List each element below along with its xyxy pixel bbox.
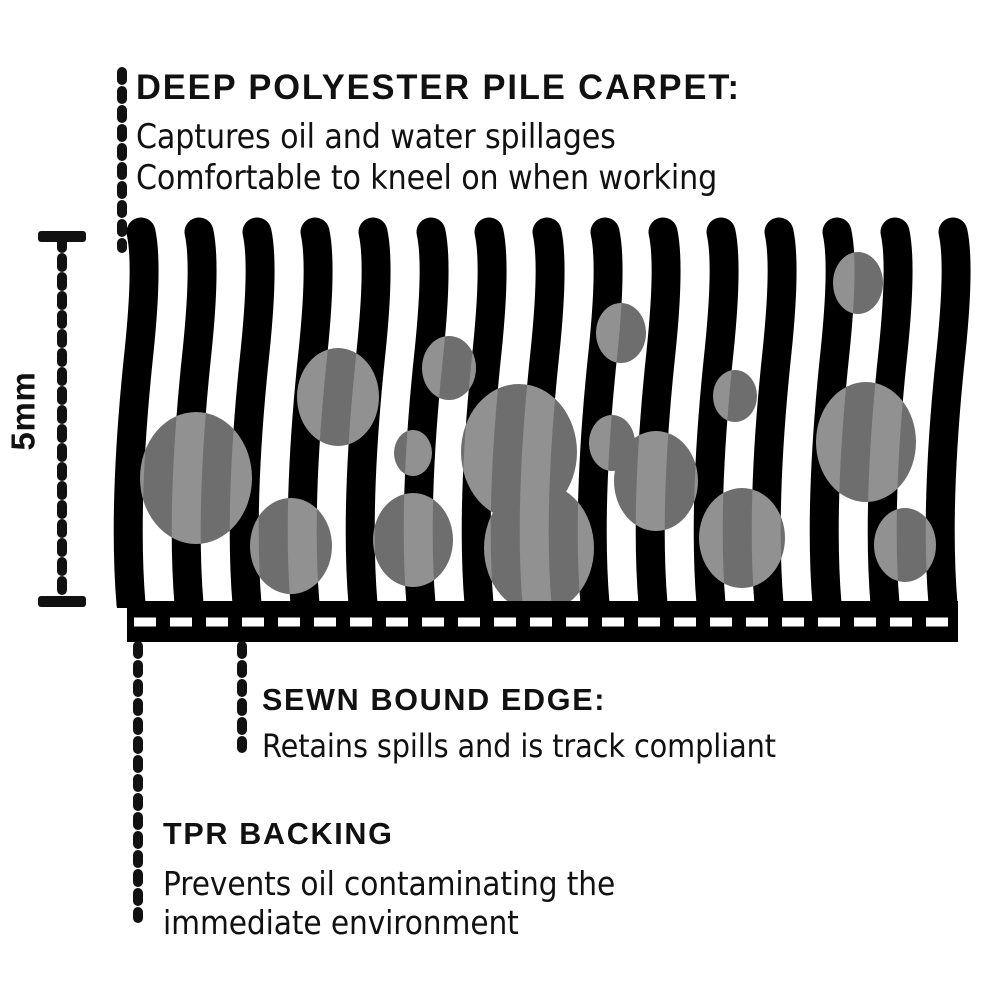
spill-droplet	[874, 508, 936, 582]
callout-heading-carpet: DEEP POLYESTER PILE CARPET:	[136, 70, 772, 105]
callout-line-carpet-2: Comfortable to kneel on when working	[136, 161, 717, 195]
callout-sewn-bound-edge: SEWN BOUND EDGE: Retains spills and is t…	[262, 684, 833, 762]
callout-tpr-backing: TPR BACKING Prevents oil contaminating t…	[163, 818, 665, 939]
dimension-label-5mm: 5mm	[0, 361, 48, 461]
callout-heading-tpr: TPR BACKING	[163, 818, 658, 849]
spill-droplet	[484, 483, 594, 613]
callout-line-tpr-2: immediate environment	[163, 906, 615, 939]
spill-droplet	[713, 370, 757, 422]
spill-droplet	[614, 431, 698, 531]
spill-droplet	[140, 412, 252, 544]
spill-droplet	[816, 382, 916, 502]
pile-fiber	[650, 232, 666, 604]
callout-line-sewn-1: Retains spills and is track compliant	[262, 730, 776, 762]
spill-droplet	[297, 348, 379, 446]
spill-droplet	[373, 493, 453, 587]
callout-heading-sewn: SEWN BOUND EDGE:	[262, 684, 824, 715]
spill-droplet	[699, 488, 785, 588]
spill-droplet	[596, 303, 646, 363]
callout-line-carpet-1: Captures oil and water spillages	[136, 120, 717, 154]
diagram-canvas: 5mm DEEP POLYESTER PILE CARPET: Captures…	[0, 0, 1000, 1000]
spill-droplet	[394, 430, 432, 476]
dimension-label-text: 5mm	[5, 371, 43, 450]
spill-droplet	[250, 498, 332, 594]
callout-line-tpr-1: Prevents oil contaminating the	[163, 867, 615, 900]
dimension-cap-bottom	[38, 596, 86, 607]
spill-droplet	[833, 252, 883, 314]
callout-deep-polyester-pile-carpet: DEEP POLYESTER PILE CARPET: Captures oil…	[136, 70, 782, 194]
pile-fiber	[940, 232, 956, 604]
spill-droplet	[422, 336, 476, 400]
pile-fiber	[128, 232, 144, 604]
